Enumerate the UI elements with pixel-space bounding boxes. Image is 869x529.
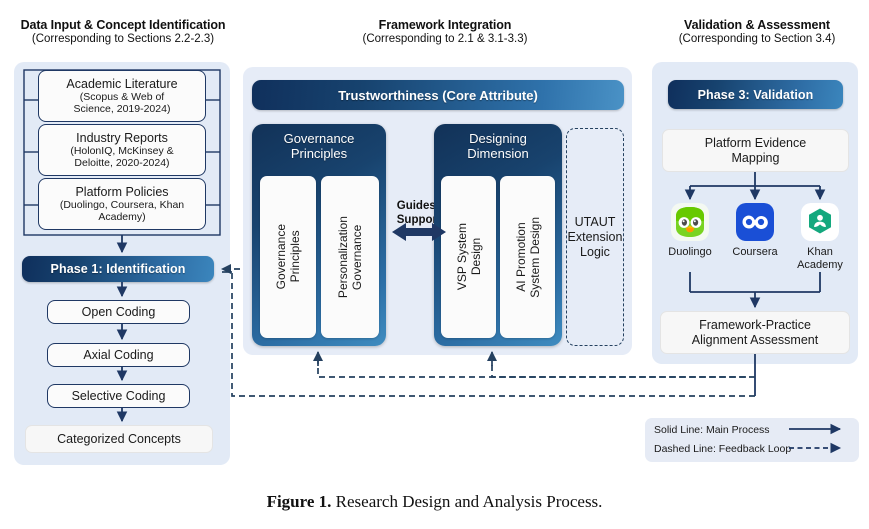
column-title: Validation & Assessment bbox=[645, 18, 869, 32]
utaut-extension-logic-box: UTAUT Extension Logic bbox=[566, 128, 624, 346]
source-detail: (HolonIQ, McKinsey & Deloitte, 2020-2024… bbox=[70, 145, 173, 170]
khan-academy-logo bbox=[801, 203, 839, 241]
source-detail: (Duolingo, Coursera, Khan Academy) bbox=[60, 199, 184, 224]
coursera-logo bbox=[736, 203, 774, 241]
column-title: Framework Integration bbox=[300, 18, 590, 32]
core-attribute-bar: Trustworthiness (Core Attribute) bbox=[252, 80, 624, 110]
card-ai-promotion-system-design: AI Promotion System Design bbox=[500, 176, 555, 338]
card-label: VSP System Design bbox=[455, 223, 483, 290]
card-label: Governance Principles bbox=[274, 224, 302, 289]
phase-1-identification: Phase 1: Identification bbox=[22, 256, 214, 282]
platform-caption-khan-academy: Khan Academy bbox=[784, 246, 856, 271]
pillar-title: Designing Dimension bbox=[434, 131, 562, 161]
step-axial-coding: Axial Coding bbox=[47, 343, 190, 367]
legend-label: Solid Line: Main Process bbox=[654, 424, 770, 436]
legend-label: Dashed Line: Feedback Loop bbox=[654, 443, 791, 455]
column-heading-framework-integration: Framework Integration (Corresponding to … bbox=[300, 18, 590, 45]
source-title: Academic Literature bbox=[66, 77, 177, 91]
figure-diagram: Data Input & Concept Identification (Cor… bbox=[0, 0, 869, 529]
card-vsp-system-design: VSP System Design bbox=[441, 176, 496, 338]
platform-evidence-mapping-box: Platform Evidence Mapping bbox=[662, 129, 849, 172]
step-selective-coding: Selective Coding bbox=[47, 384, 190, 408]
legend-row-solid: Solid Line: Main Process bbox=[654, 424, 770, 436]
card-label: AI Promotion System Design bbox=[514, 217, 542, 298]
source-title: Platform Policies bbox=[75, 185, 168, 199]
source-detail: (Scopus & Web of Science, 2019-2024) bbox=[74, 91, 171, 116]
step-label: Selective Coding bbox=[72, 389, 166, 403]
phase-3-validation: Phase 3: Validation bbox=[668, 80, 843, 109]
source-box-industry-reports: Industry Reports (HolonIQ, McKinsey & De… bbox=[38, 124, 206, 176]
pillar-title: Governance Principles bbox=[252, 131, 386, 161]
duolingo-logo bbox=[671, 203, 709, 241]
step-label: Open Coding bbox=[82, 305, 156, 319]
step-label: Axial Coding bbox=[83, 348, 153, 362]
caption-text: Research Design and Analysis Process. bbox=[331, 492, 602, 511]
card-governance-principles: Governance Principles bbox=[260, 176, 316, 338]
card-personalization-governance: Personalization Governance bbox=[321, 176, 379, 338]
column-heading-validation-assessment: Validation & Assessment (Corresponding t… bbox=[645, 18, 869, 45]
column-heading-data-input: Data Input & Concept Identification (Cor… bbox=[8, 18, 238, 45]
figure-caption: Figure 1. Research Design and Analysis P… bbox=[0, 492, 869, 512]
legend-row-dashed: Dashed Line: Feedback Loop bbox=[654, 443, 791, 455]
source-title: Industry Reports bbox=[76, 131, 168, 145]
column-subtitle: (Corresponding to Sections 2.2-2.3) bbox=[8, 33, 238, 45]
caption-label: Figure 1. bbox=[267, 492, 332, 511]
column-subtitle: (Corresponding to Section 3.4) bbox=[645, 33, 869, 45]
source-box-academic-literature: Academic Literature (Scopus & Web of Sci… bbox=[38, 70, 206, 122]
source-box-platform-policies: Platform Policies (Duolingo, Coursera, K… bbox=[38, 178, 206, 230]
framework-practice-alignment-box: Framework-Practice Alignment Assessment bbox=[660, 311, 850, 354]
platform-caption-coursera: Coursera bbox=[719, 246, 791, 259]
card-label: Personalization Governance bbox=[336, 216, 364, 298]
platform-caption-duolingo: Duolingo bbox=[654, 246, 726, 259]
step-open-coding: Open Coding bbox=[47, 300, 190, 324]
column-title: Data Input & Concept Identification bbox=[8, 18, 238, 32]
output-categorized-concepts: Categorized Concepts bbox=[25, 425, 213, 453]
column-subtitle: (Corresponding to 2.1 & 3.1-3.3) bbox=[300, 33, 590, 45]
